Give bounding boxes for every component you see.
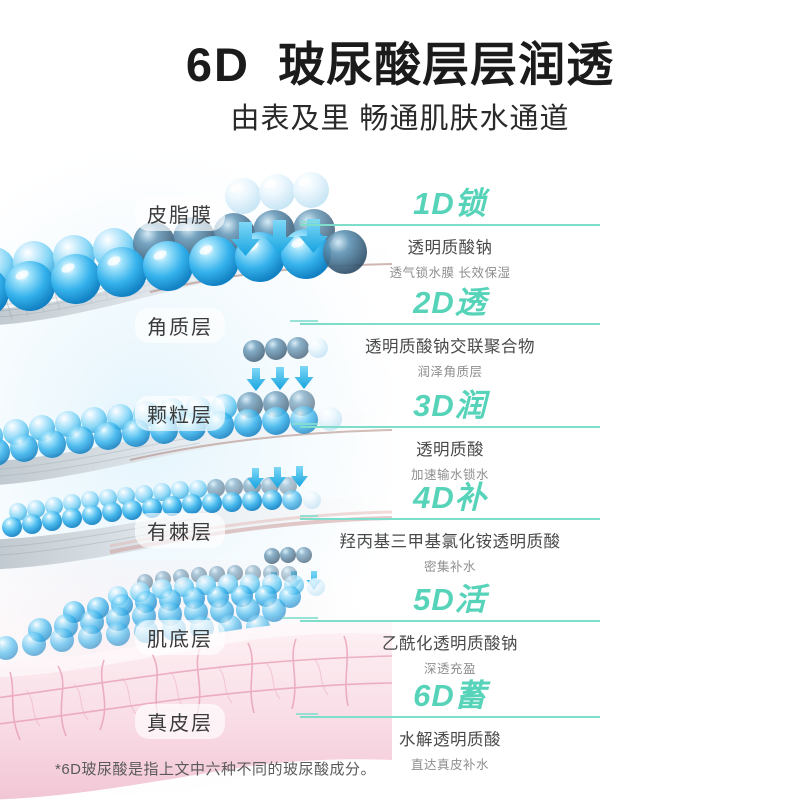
skin-layer-label-sebum-film: 皮脂膜	[135, 196, 225, 231]
feature-block-5d: 5D活 乙酰化透明质酸钠 深透充盈	[300, 584, 600, 677]
feature-benefit-1d: 透气锁水膜 长效保湿	[300, 262, 600, 281]
skin-layer-label-basal: 肌底层	[135, 620, 225, 655]
footnote-text: *6D玻尿酸是指上文中六种不同的玻尿酸成分。	[55, 758, 376, 779]
feature-ingredient-1d: 透明质酸钠	[300, 234, 600, 258]
feature-benefit-2d: 润泽角质层	[300, 361, 600, 380]
feature-block-1d: 1D锁 透明质酸钠 透气锁水膜 长效保湿	[300, 188, 600, 281]
page-subtitle: 由表及里 畅通肌肤水通道	[0, 95, 800, 137]
infographic-page: 6D 玻尿酸层层润透 由表及里 畅通肌肤水通道 1D锁 透明质酸钠 透气锁水膜 …	[0, 0, 800, 800]
feature-benefit-5d: 深透充盈	[300, 658, 600, 677]
feature-rule-1d	[300, 224, 600, 226]
feature-name-5d: 5D活	[300, 584, 600, 617]
feature-rule-3d	[300, 426, 600, 428]
page-title: 6D 玻尿酸层层润透	[0, 26, 800, 95]
feature-rule-4d	[300, 518, 600, 520]
feature-ingredient-5d: 乙酰化透明质酸钠	[300, 630, 600, 654]
skin-layer-label-stratum-corneum: 角质层	[135, 308, 225, 343]
skin-layer-label-spinous: 有棘层	[135, 513, 225, 548]
feature-ingredient-3d: 透明质酸	[300, 436, 600, 460]
feature-name-1d: 1D锁	[300, 188, 600, 221]
title-lead: 6D	[186, 38, 250, 91]
feature-ingredient-2d: 透明质酸钠交联聚合物	[300, 333, 600, 357]
feature-name-3d: 3D润	[300, 390, 600, 423]
feature-ingredient-6d: 水解透明质酸	[300, 726, 600, 750]
feature-block-3d: 3D润 透明质酸 加速输水锁水	[300, 390, 600, 483]
feature-block-4d: 4D补 羟丙基三甲基氯化铵透明质酸 密集补水	[300, 482, 600, 575]
feature-rule-6d	[300, 716, 600, 718]
feature-block-2d: 2D透 透明质酸钠交联聚合物 润泽角质层	[300, 287, 600, 380]
feature-rule-2d	[300, 323, 600, 325]
feature-name-6d: 6D蓄	[300, 680, 600, 713]
skin-layer-label-dermis: 真皮层	[135, 704, 225, 739]
title-main: 玻尿酸层层润透	[278, 38, 614, 91]
feature-name-4d: 4D补	[300, 482, 600, 515]
feature-rule-5d	[300, 620, 600, 622]
feature-benefit-4d: 密集补水	[300, 556, 600, 575]
feature-ingredient-4d: 羟丙基三甲基氯化铵透明质酸	[300, 528, 600, 552]
skin-layer-label-granular: 颗粒层	[135, 396, 225, 431]
feature-name-2d: 2D透	[300, 287, 600, 320]
